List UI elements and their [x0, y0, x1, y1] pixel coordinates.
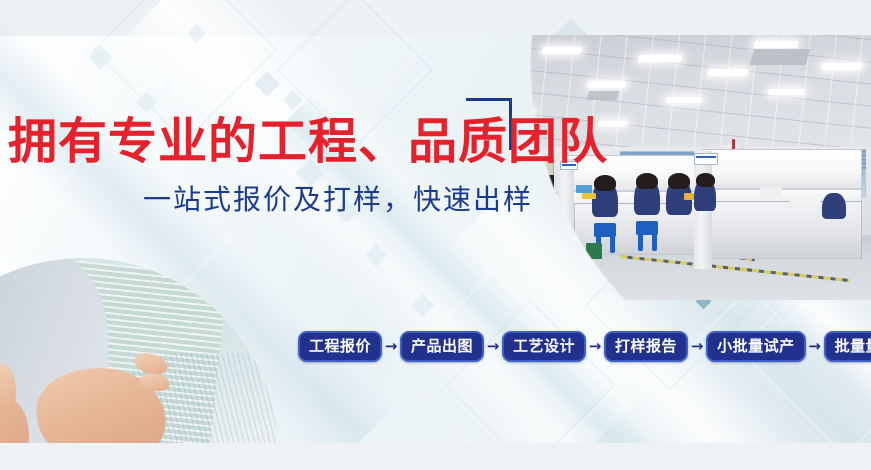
process-step-label: 小批量试产 [717, 339, 795, 354]
arrow-right-icon: → [484, 331, 502, 362]
process-step[interactable]: 工艺设计 [502, 331, 586, 362]
meeting-photo [0, 258, 278, 470]
process-step[interactable]: 小批量试产 [706, 331, 806, 362]
process-step[interactable]: 批量量产 [824, 331, 871, 362]
arrow-right-icon: → [688, 331, 706, 362]
process-step[interactable]: 产品出图 [400, 331, 484, 362]
background-top-strip [0, 0, 871, 36]
process-step-label: 打样报告 [615, 339, 677, 354]
process-flow: 工程报价→产品出图→工艺设计→打样报告→小批量试产→批量量产 [298, 331, 871, 362]
process-step-label: 产品出图 [411, 339, 473, 354]
process-step-label: 工程报价 [309, 339, 371, 354]
page-subtitle: 一站式报价及打样，快速出样 [143, 186, 533, 214]
page-title: 拥有专业的工程、品质团队 [8, 117, 608, 166]
arrow-right-icon: → [586, 331, 604, 362]
process-step-label: 批量量产 [835, 339, 871, 354]
process-step[interactable]: 打样报告 [604, 331, 688, 362]
promo-banner: 拥有专业的工程、品质团队 一站式报价及打样，快速出样 工程报价→产品出图→工艺设… [0, 0, 871, 470]
background-bottom-strip [0, 443, 871, 470]
process-step-label: 工艺设计 [513, 339, 575, 354]
process-step[interactable]: 工程报价 [298, 331, 382, 362]
arrow-right-icon: → [806, 331, 824, 362]
arrow-right-icon: → [382, 331, 400, 362]
